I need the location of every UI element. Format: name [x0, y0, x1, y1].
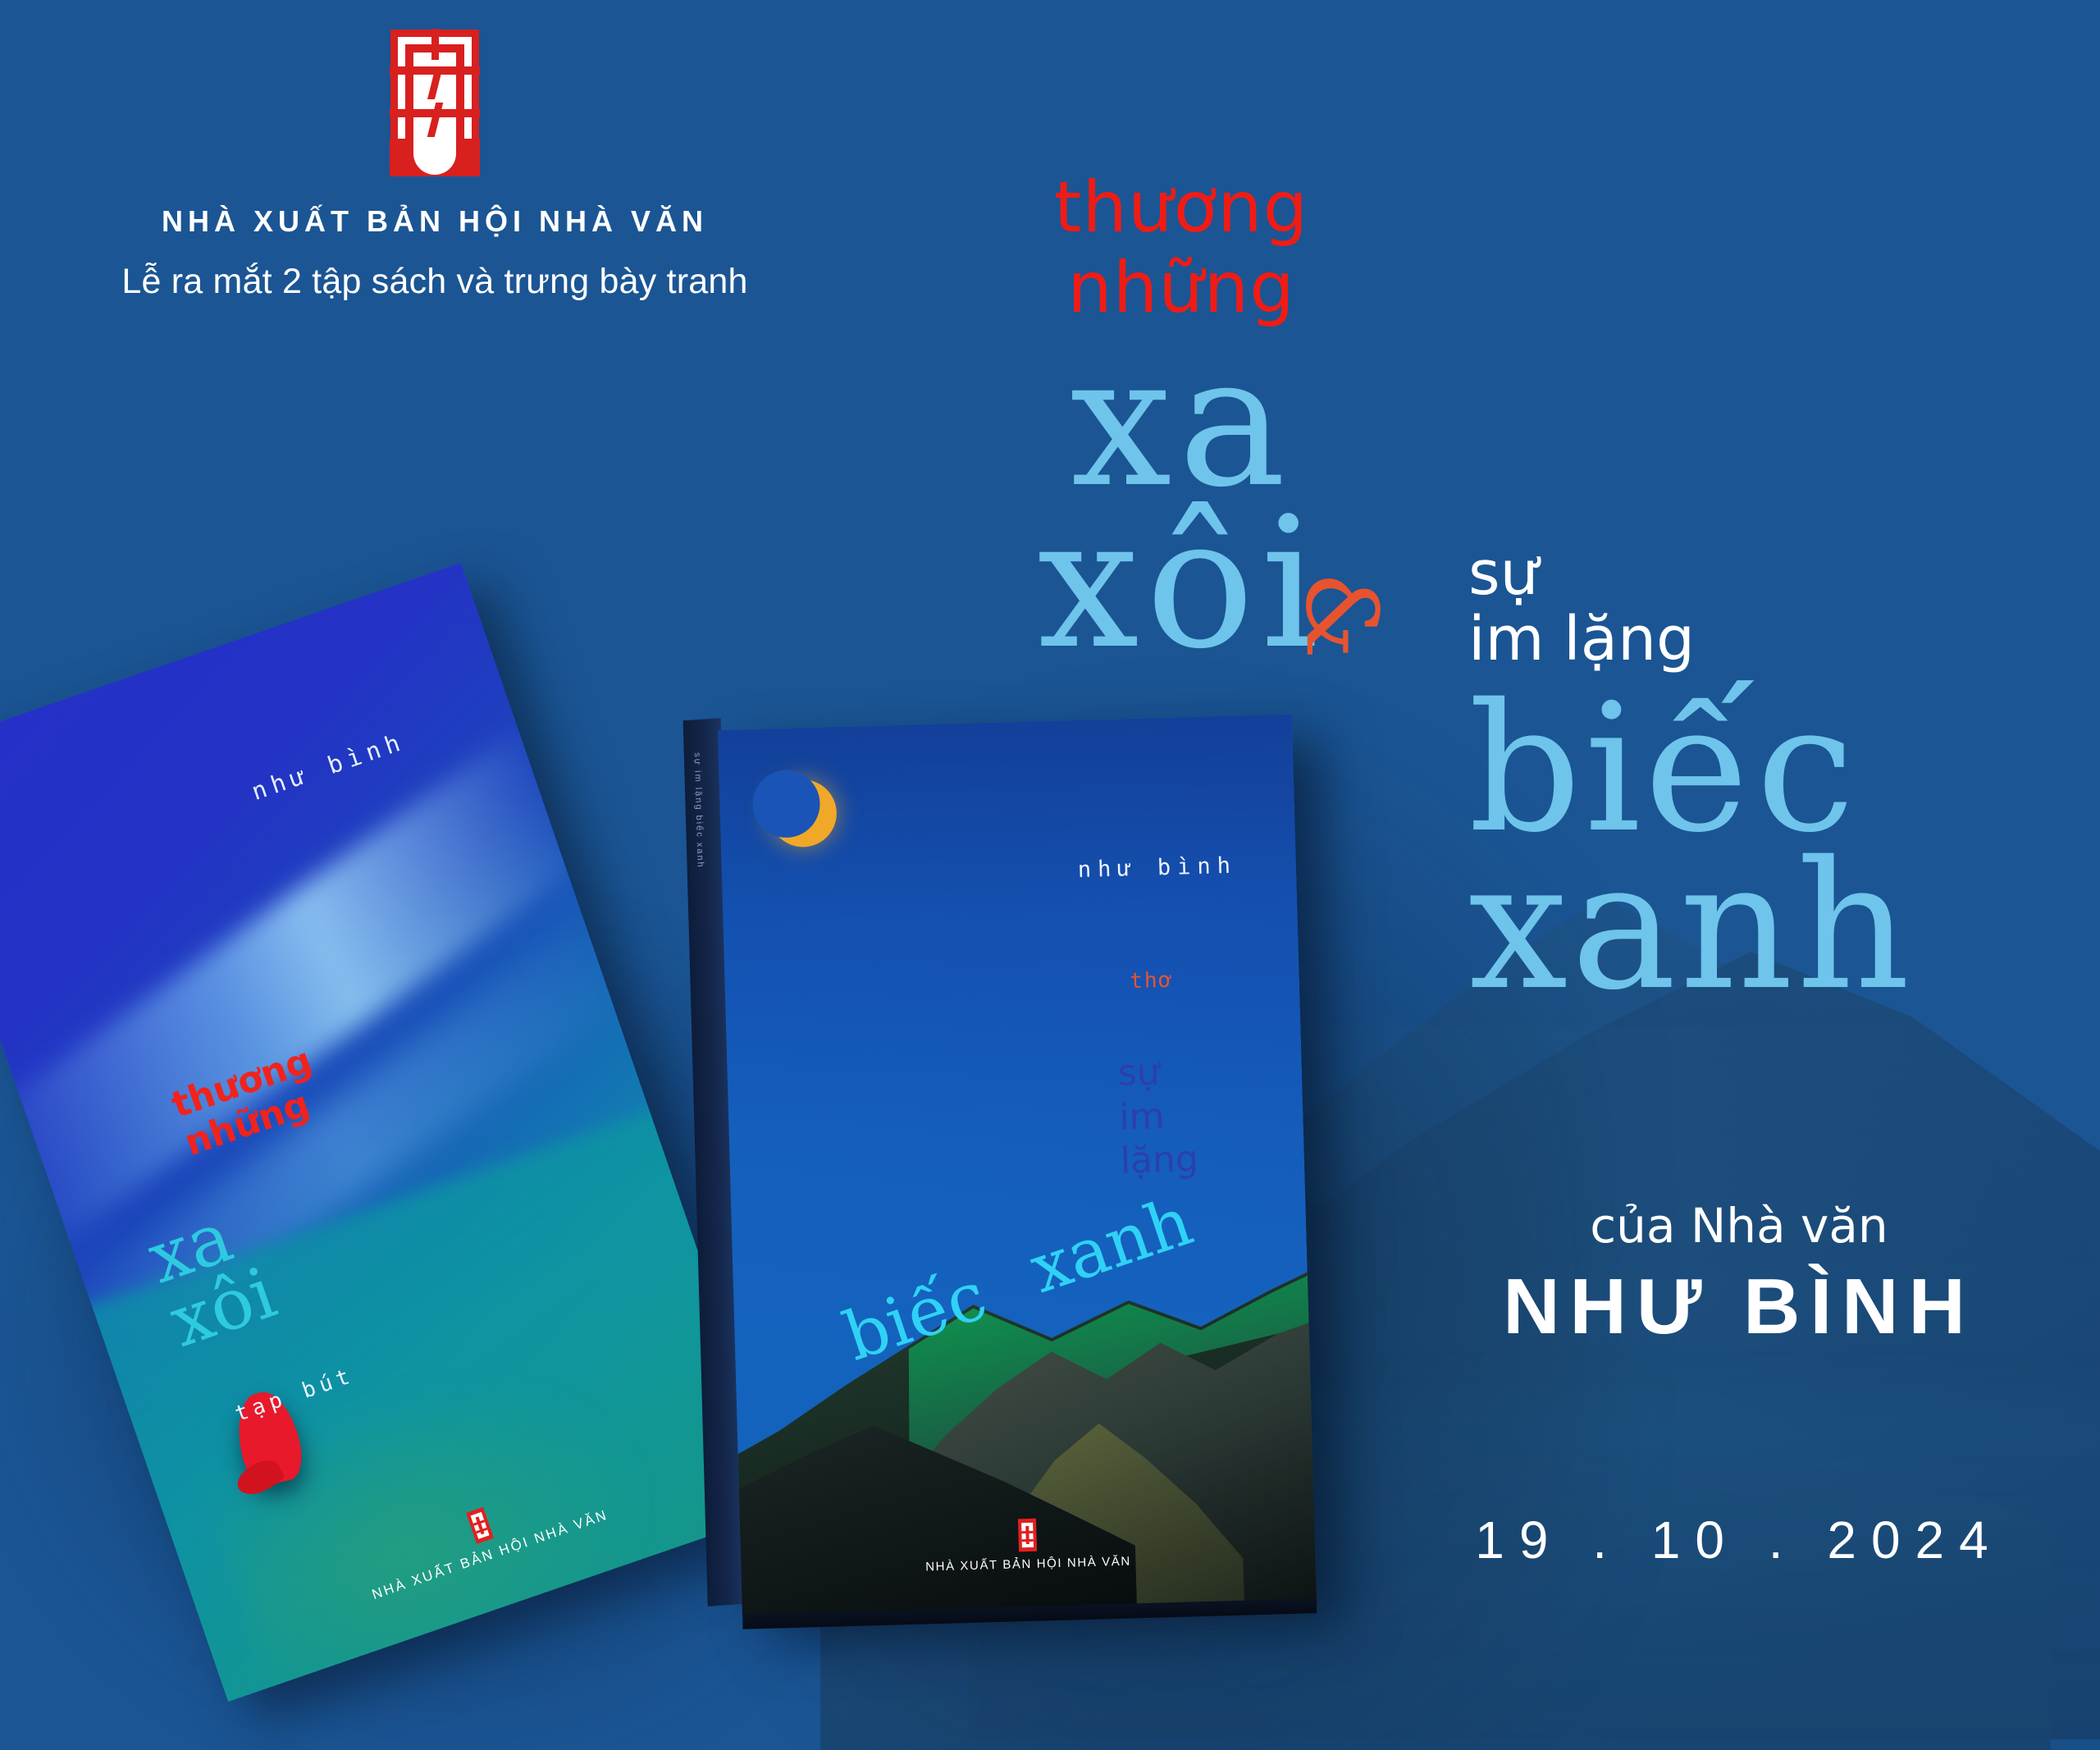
poster-canvas: NHÀ XUẤT BẢN HỘI NHÀ VĂN Lễ ra mắt 2 tập…: [0, 0, 2100, 1750]
title-right-blue-line2: xanh: [1468, 843, 2092, 1009]
publisher-name: NHÀ XUẤT BẢN HỘI NHÀ VĂN: [0, 204, 870, 239]
header-block: NHÀ XUẤT BẢN HỘI NHÀ VĂN Lễ ra mắt 2 tập…: [0, 30, 870, 302]
book2-artwork: [718, 715, 1317, 1616]
book-cover-biec-xanh: sự im lặng biếc xanh như bình thơ sự im …: [718, 715, 1317, 1616]
title-right-white-line2: im lặng: [1468, 607, 2092, 673]
author-prefix: của Nhà văn: [1395, 1198, 2084, 1254]
title-right-stack: sự im lặng biếc xanh: [1468, 541, 2092, 1009]
book2-subtitle: sự im lặng: [1117, 1049, 1198, 1184]
nxb-mini-logo-icon: [1018, 1518, 1037, 1551]
book2-subtitle-line3: lặng: [1120, 1138, 1198, 1182]
book2-title-word1: biếc: [835, 1256, 996, 1376]
book2-author: như bình: [1077, 853, 1237, 883]
ampersand-connector: &: [1290, 572, 1389, 660]
book2-title: biếc xanh: [835, 1202, 1288, 1410]
event-subtitle: Lễ ra mắt 2 tập sách và trưng bày tranh: [0, 262, 870, 302]
nxb-logo-icon: [390, 30, 479, 176]
author-block: của Nhà văn NHƯ BÌNH: [1395, 1198, 2084, 1352]
nxb-mini-logo-icon: [466, 1507, 494, 1544]
author-name: NHƯ BÌNH: [1395, 1262, 2084, 1352]
title-right-white: sự im lặng: [1468, 541, 2092, 673]
title-right-white-line1: sự: [1468, 538, 1538, 609]
book2-spine-text: sự im lặng biếc xanh: [692, 752, 705, 869]
title-left-red: thương những: [886, 172, 1477, 324]
book2-subtitle-line2: im: [1119, 1095, 1165, 1139]
title-left-red-line1: thương: [1054, 167, 1308, 249]
title-right-blue: biếc xanh: [1468, 686, 2092, 1009]
book2-subtitle-line1: sự: [1117, 1051, 1160, 1094]
title-left-red-line2: những: [886, 253, 1477, 325]
event-date: 19 . 10 . 2024: [1395, 1510, 2084, 1570]
book2-genre: thơ: [1130, 967, 1174, 993]
publisher-logo: [390, 30, 479, 176]
